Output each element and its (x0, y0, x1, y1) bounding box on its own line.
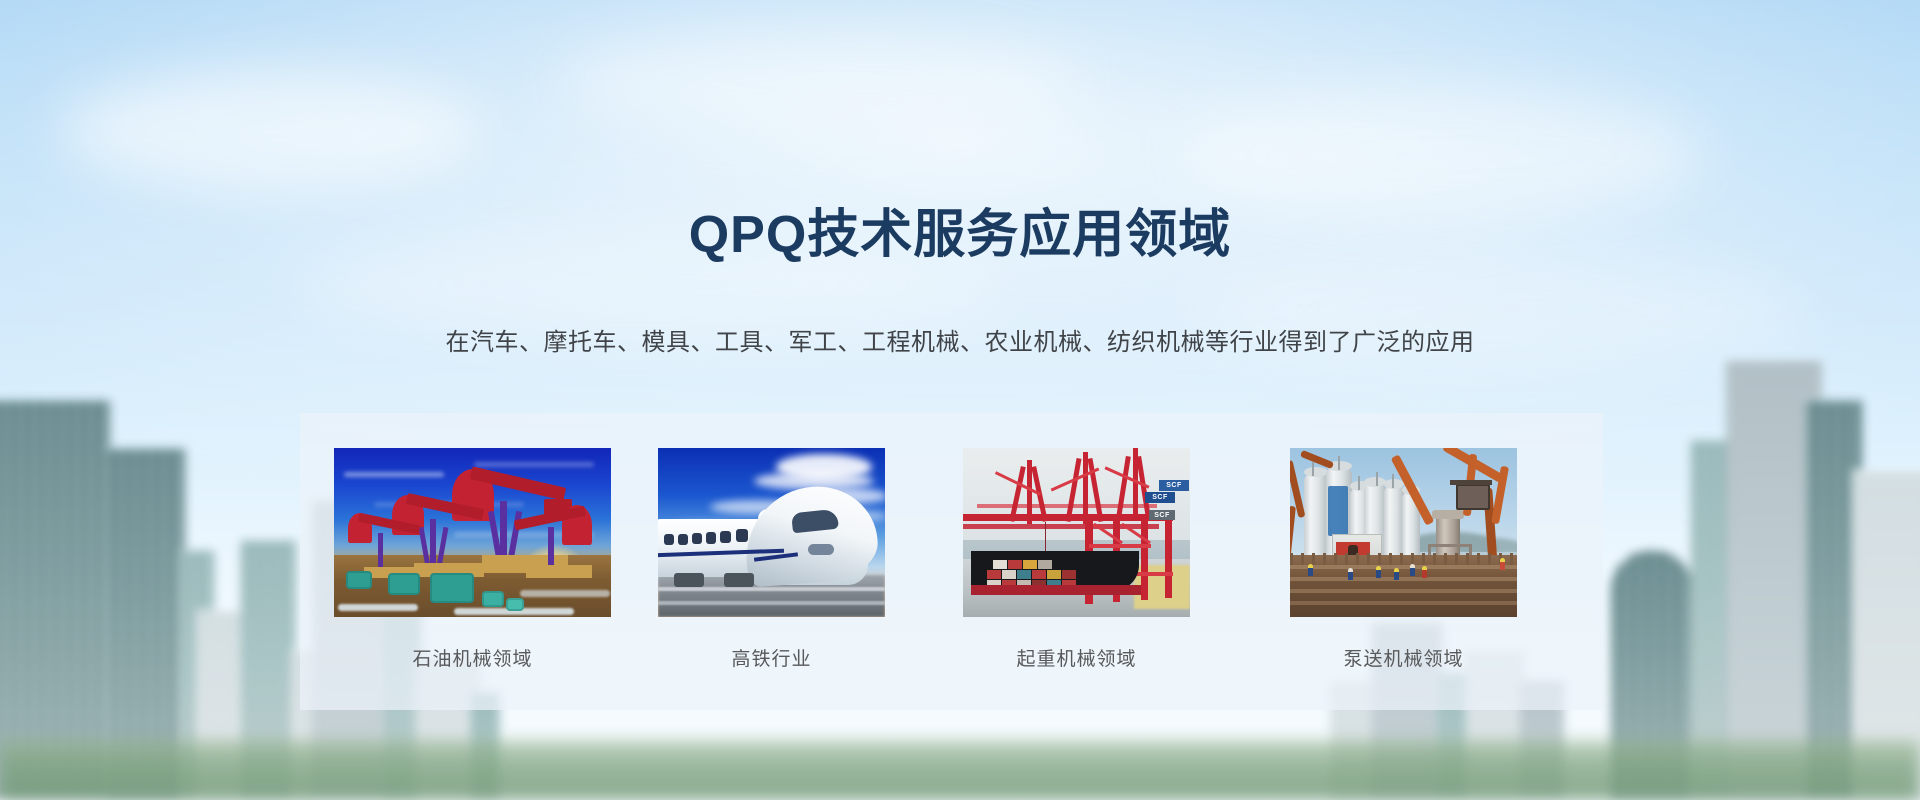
application-card-caption: 泵送机械领域 (1290, 644, 1517, 671)
application-card-pump[interactable]: 泵送机械领域 (1290, 448, 1567, 617)
port-container-cranes-image[interactable]: SCF SCF SCF (963, 448, 1190, 617)
application-card-oil[interactable]: 石油机械领域 (334, 448, 611, 617)
application-card-caption: 石油机械领域 (334, 644, 611, 671)
application-card-crane[interactable]: SCF SCF SCF (963, 448, 1240, 617)
ground-strip (0, 740, 1920, 800)
concrete-pump-batching-plant-image[interactable] (1290, 448, 1517, 617)
high-speed-train-image[interactable] (658, 448, 885, 617)
page-title: QPQ技术服务应用领域 (0, 192, 1920, 267)
cloud-decoration (60, 70, 480, 190)
application-card-list: 石油机械领域 (300, 413, 1603, 710)
applications-panel: 石油机械领域 (300, 413, 1603, 710)
cloud-decoration (560, 30, 1080, 130)
application-card-caption: 起重机械领域 (963, 644, 1190, 671)
hero-banner: QPQ技术服务应用领域 在汽车、摩托车、模具、工具、军工、工程机械、农业机械、纺… (0, 0, 1920, 800)
application-card-caption: 高铁行业 (658, 644, 885, 671)
page-subtitle: 在汽车、摩托车、模具、工具、军工、工程机械、农业机械、纺织机械等行业得到了广泛的… (0, 322, 1920, 357)
oil-pumpjacks-image[interactable] (334, 448, 611, 617)
application-card-rail[interactable]: 高铁行业 (658, 448, 935, 617)
